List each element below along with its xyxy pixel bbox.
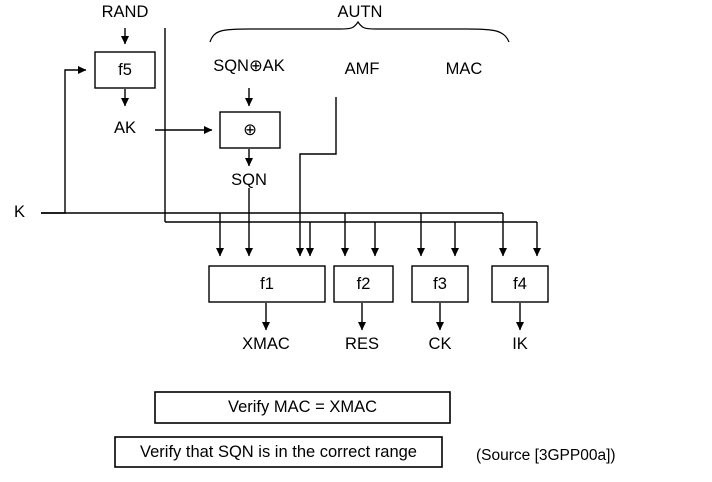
xor-box-outline: [220, 112, 280, 148]
verify-mac-box-outline: [155, 392, 450, 423]
label-sqn: SQN: [231, 172, 267, 189]
f3-box-outline: [412, 266, 468, 302]
label-autn: AUTN: [338, 4, 383, 21]
label-mac: MAC: [446, 61, 483, 78]
f2-box-outline: [334, 266, 393, 302]
label-rand: RAND: [102, 4, 149, 21]
f4-box-outline: [492, 266, 548, 302]
label-res: RES: [345, 336, 379, 353]
amf-to-f1-arrow: [300, 97, 336, 256]
label-ak: AK: [114, 120, 136, 137]
k-to-f5-line: [41, 70, 86, 213]
label-ck: CK: [429, 336, 452, 353]
f5-box-outline: [95, 52, 155, 88]
diagram-canvas: RAND AUTN SQN⊕AK AMF MAC AK SQN K f5 ⊕ f…: [0, 0, 712, 482]
label-sqn-xor-ak: SQN⊕AK: [213, 58, 285, 75]
source-note: (Source [3GPP00a]): [476, 447, 616, 465]
f1-box-outline: [209, 266, 325, 302]
label-xmac: XMAC: [242, 336, 290, 353]
label-ik: IK: [512, 336, 528, 353]
label-k: K: [14, 204, 25, 221]
label-amf: AMF: [345, 61, 380, 78]
autn-brace: [210, 22, 509, 42]
verify-sqn-box-outline: [115, 437, 442, 467]
